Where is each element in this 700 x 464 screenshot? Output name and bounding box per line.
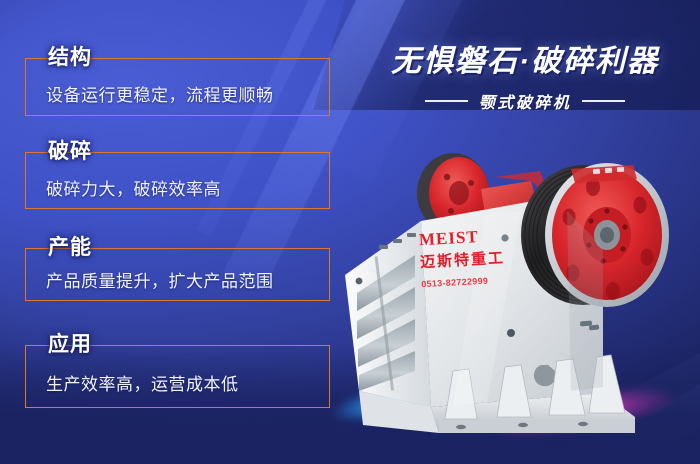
headline-subtitle: 颚式破碎机 (479, 89, 572, 113)
feature-item-crushing: 破碎 破碎力大，破碎效率高 (25, 152, 330, 209)
feature-text: 设备运行更稳定，流程更顺畅 (46, 81, 274, 106)
feature-text: 生产效率高，运营成本低 (46, 370, 239, 395)
feature-text: 破碎力大，破碎效率高 (46, 175, 221, 200)
machine-svg (335, 125, 695, 445)
feature-item-application: 应用 生产效率高，运营成本低 (25, 345, 330, 408)
feature-title: 产能 (44, 233, 100, 263)
headline-main: 无惧磐石·破碎利器 (360, 44, 690, 80)
bolt (507, 329, 515, 337)
feature-title: 应用 (44, 330, 100, 360)
bolt (356, 278, 363, 285)
dash-left-icon (425, 100, 468, 102)
feature-item-capacity: 产能 产品质量提升，扩大产品范围 (25, 248, 330, 301)
headline-subtitle-row: 颚式破碎机 (360, 89, 690, 113)
feature-list: 结构 设备运行更稳定，流程更顺畅 破碎 破碎力大，破碎效率高 产能 产品质量提升… (0, 0, 345, 464)
base-plate (439, 421, 635, 433)
feature-item-structure: 结构 设备运行更稳定，流程更顺畅 (25, 58, 330, 116)
feature-title: 结构 (44, 43, 100, 73)
dash-right-icon (582, 100, 625, 102)
jaw-crusher-illustration: MEIST 迈斯特重工 0513-82722999 (335, 125, 695, 445)
headline-block: 无惧磐石·破碎利器 颚式破碎机 (360, 44, 690, 113)
feature-text: 产品质量提升，扩大产品范围 (46, 267, 274, 292)
feature-title: 破碎 (44, 137, 100, 167)
promo-banner: 无惧磐石·破碎利器 颚式破碎机 (0, 0, 700, 464)
